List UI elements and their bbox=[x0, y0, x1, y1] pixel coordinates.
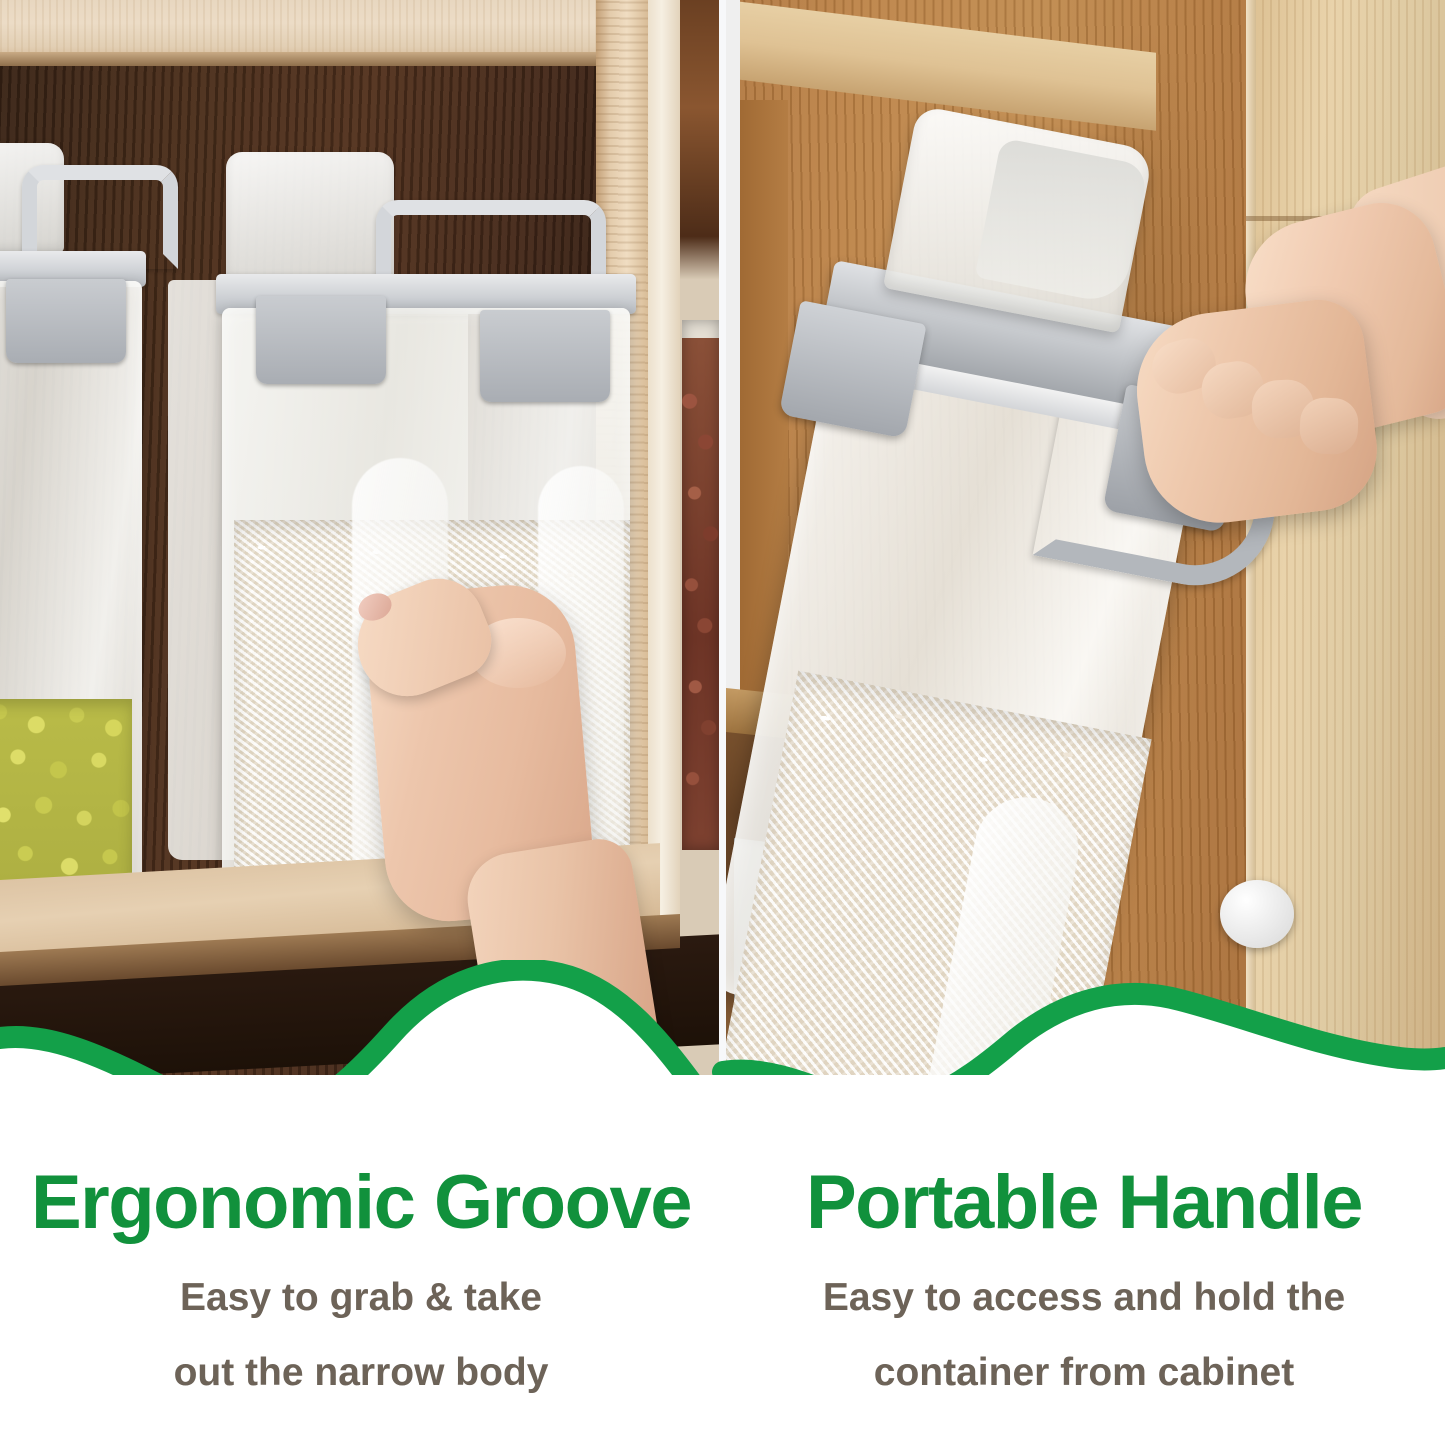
caption-ergonomic-groove: Ergonomic Groove Easy to grab & take out… bbox=[0, 1075, 722, 1445]
captions-area: Ergonomic Groove Easy to grab & take out… bbox=[0, 1075, 1445, 1445]
wrist-forearm bbox=[461, 834, 663, 1075]
subtitle-line-2: container from cabinet bbox=[723, 1353, 1445, 1392]
heading-portable-handle: Portable Handle bbox=[723, 1165, 1445, 1241]
finger-pinky bbox=[1299, 397, 1360, 456]
container-mung-beans bbox=[0, 203, 146, 963]
hand-holding-handle bbox=[1104, 212, 1445, 642]
side-clip bbox=[6, 279, 126, 363]
infographic-root: Ergonomic Groove Easy to grab & take out… bbox=[0, 0, 1445, 1445]
subtitle-line-2: out the narrow body bbox=[0, 1353, 722, 1392]
rice-fill bbox=[726, 671, 1152, 1075]
white-knob bbox=[1220, 880, 1294, 948]
caption-portable-handle: Portable Handle Easy to access and hold … bbox=[723, 1075, 1445, 1445]
subtitle-line-1: Easy to access and hold the bbox=[723, 1278, 1445, 1317]
container-body bbox=[0, 281, 142, 953]
heading-ergonomic-groove: Ergonomic Groove bbox=[0, 1165, 722, 1241]
side-clip-left bbox=[256, 296, 386, 384]
photo-portable-handle bbox=[726, 0, 1445, 1075]
side-clip-left bbox=[779, 300, 927, 438]
subtitle-line-1: Easy to grab & take bbox=[0, 1278, 722, 1317]
side-clip-right bbox=[480, 310, 610, 402]
photo-ergonomic-groove bbox=[0, 0, 719, 1075]
red-beans-container bbox=[682, 320, 719, 850]
panel-divider bbox=[719, 0, 726, 1100]
hand-gripping-groove bbox=[352, 560, 632, 1075]
